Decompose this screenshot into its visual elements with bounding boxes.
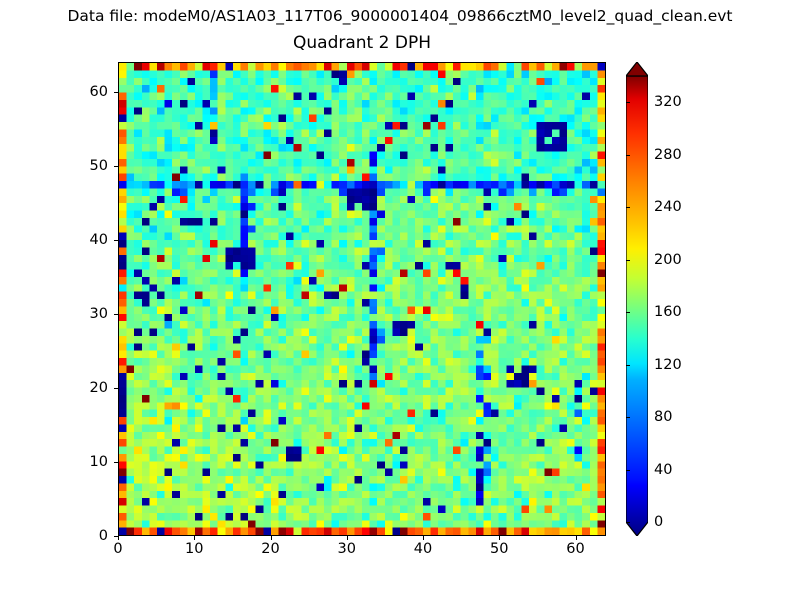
matplotlib-figure: Data file: modeM0/AS1A03_117T06_90000014… (0, 0, 800, 600)
x-tick-mark (423, 536, 424, 540)
x-tick-label: 40 (414, 541, 432, 557)
y-tick-label: 20 (56, 380, 108, 396)
y-tick-mark (114, 536, 118, 537)
y-tick-mark (114, 462, 118, 463)
y-tick-label: 60 (56, 84, 108, 100)
x-tick-mark (118, 536, 119, 540)
colorbar-tick-mark (626, 365, 630, 366)
y-tick-label: 50 (56, 158, 108, 174)
y-tick-mark (114, 92, 118, 93)
y-tick-mark (114, 166, 118, 167)
data-file-suptitle: Data file: modeM0/AS1A03_117T06_90000014… (0, 7, 800, 25)
colorbar-tick-label: 240 (654, 199, 682, 215)
x-tick-mark (576, 536, 577, 540)
x-tick-mark (271, 536, 272, 540)
detector-heatmap-image (119, 63, 605, 535)
colorbar (626, 62, 648, 536)
x-tick-label: 20 (261, 541, 279, 557)
colorbar-tick-mark (626, 207, 630, 208)
y-tick-label: 10 (56, 454, 108, 470)
colorbar-tick-label: 320 (654, 94, 682, 110)
x-tick-label: 10 (185, 541, 203, 557)
colorbar-tick-label: 200 (654, 252, 682, 268)
x-tick-label: 0 (113, 541, 122, 557)
x-tick-label: 50 (490, 541, 508, 557)
y-tick-label: 40 (56, 232, 108, 248)
page-title: Quadrant 2 DPH (118, 33, 606, 53)
x-tick-mark (347, 536, 348, 540)
y-tick-label: 30 (56, 306, 108, 322)
y-tick-mark (114, 314, 118, 315)
heatmap-axes (118, 62, 606, 536)
x-tick-mark (194, 536, 195, 540)
x-tick-mark (499, 536, 500, 540)
x-tick-label: 30 (338, 541, 356, 557)
x-tick-label: 60 (566, 541, 584, 557)
colorbar-tick-mark (626, 312, 630, 313)
colorbar-tick-label: 80 (654, 409, 672, 425)
colorbar-tick-mark (626, 155, 630, 156)
colorbar-gradient (626, 62, 648, 536)
y-tick-mark (114, 388, 118, 389)
colorbar-tick-label: 160 (654, 304, 682, 320)
colorbar-tick-mark (626, 260, 630, 261)
colorbar-tick-label: 0 (654, 514, 663, 530)
colorbar-tick-mark (626, 470, 630, 471)
colorbar-tick-mark (626, 417, 630, 418)
colorbar-tick-mark (626, 102, 630, 103)
colorbar-tick-label: 40 (654, 462, 672, 478)
y-tick-mark (114, 240, 118, 241)
colorbar-tick-label: 120 (654, 357, 682, 373)
colorbar-tick-label: 280 (654, 147, 682, 163)
y-tick-label: 0 (56, 528, 108, 544)
colorbar-tick-mark (626, 522, 630, 523)
